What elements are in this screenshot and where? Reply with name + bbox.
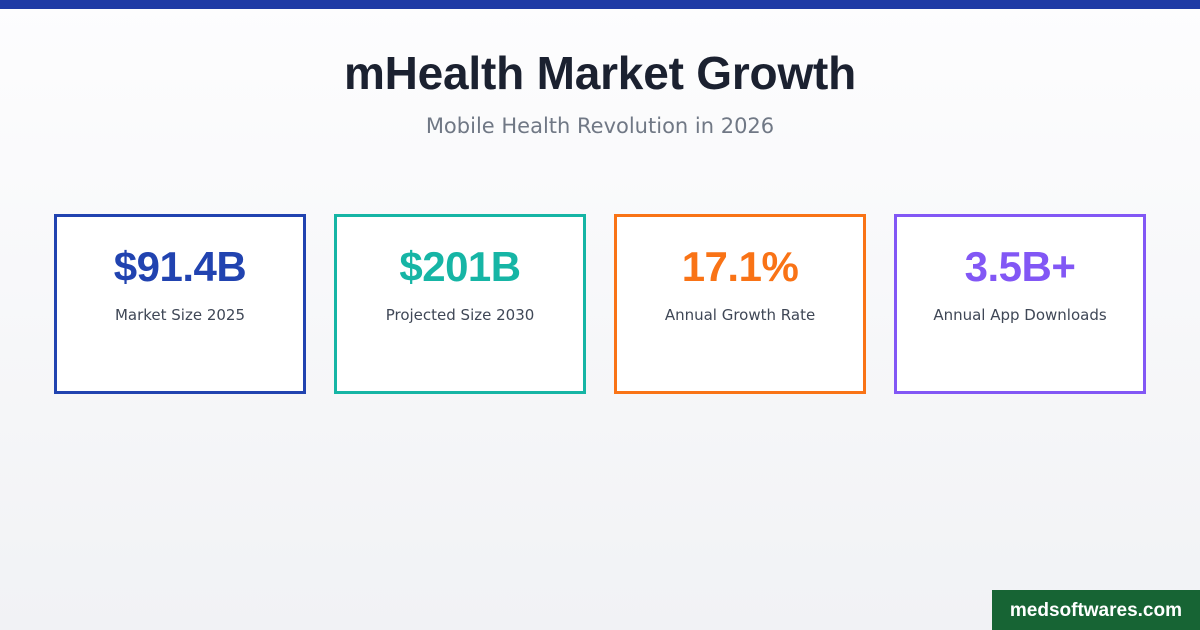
stat-card-projected-size-2030: $201B Projected Size 2030 [334,214,586,394]
page-subtitle: Mobile Health Revolution in 2026 [0,100,1200,139]
stat-label: Annual App Downloads [933,305,1106,325]
stat-value: 17.1% [682,243,799,291]
watermark-badge: medsoftwares.com [992,590,1200,630]
stat-value: $91.4B [114,243,246,291]
stat-card-row: $91.4B Market Size 2025 $201B Projected … [54,214,1146,394]
top-accent-bar [0,0,1200,9]
stat-card-annual-app-downloads: 3.5B+ Annual App Downloads [894,214,1146,394]
stat-value: 3.5B+ [965,243,1076,291]
stat-card-market-size-2025: $91.4B Market Size 2025 [54,214,306,394]
stat-label: Annual Growth Rate [665,305,815,325]
infographic-canvas: mHealth Market Growth Mobile Health Revo… [0,0,1200,630]
stat-label: Projected Size 2030 [386,305,535,325]
stat-value: $201B [399,243,520,291]
header: mHealth Market Growth Mobile Health Revo… [0,9,1200,139]
page-title: mHealth Market Growth [0,9,1200,100]
watermark-text: medsoftwares.com [1010,601,1182,620]
stat-card-annual-growth-rate: 17.1% Annual Growth Rate [614,214,866,394]
stat-label: Market Size 2025 [115,305,245,325]
